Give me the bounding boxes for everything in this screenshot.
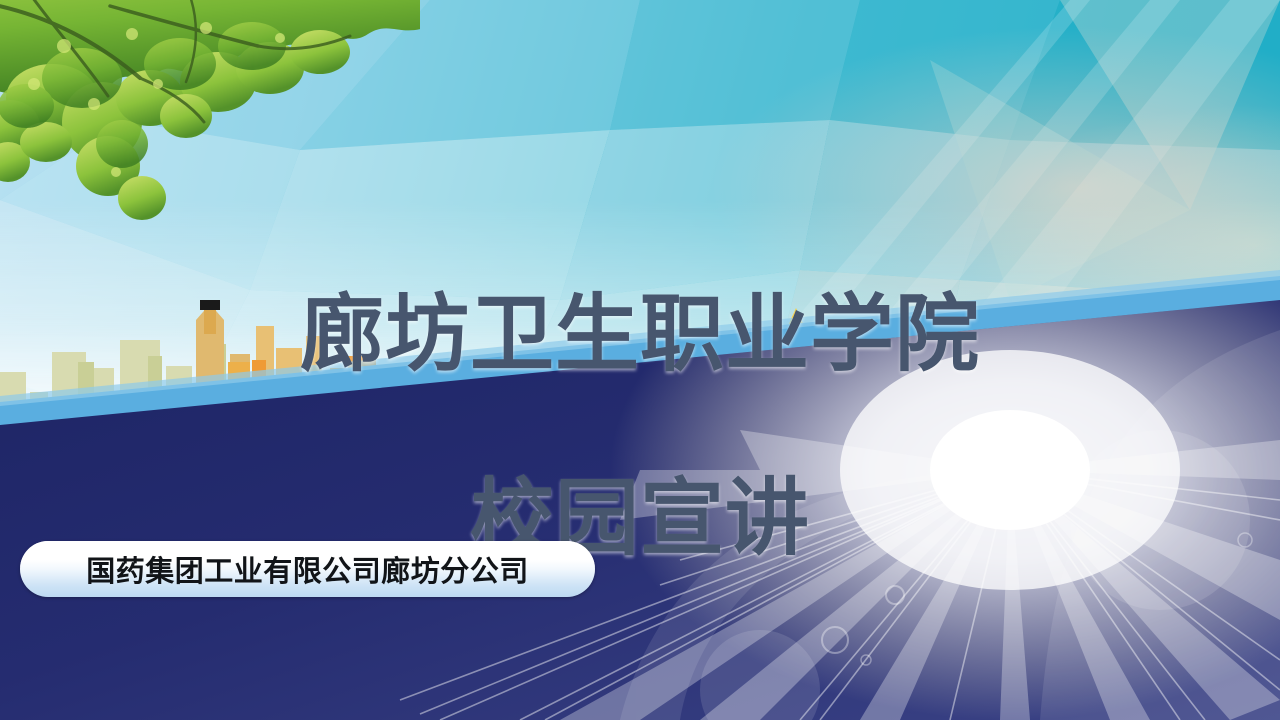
date-row: 2021年5月 [0, 616, 1280, 656]
subtitle-pill: 国药集团工业有限公司廊坊分公司 [20, 541, 595, 597]
title-line-1: 廊坊卫生职业学院 [0, 288, 1280, 380]
subtitle-text: 国药集团工业有限公司廊坊分公司 [86, 548, 529, 590]
presentation-slide: 廊坊卫生职业学院 校园宣讲 国药集团工业有限公司廊坊分公司 2021年5月 [0, 0, 1280, 720]
